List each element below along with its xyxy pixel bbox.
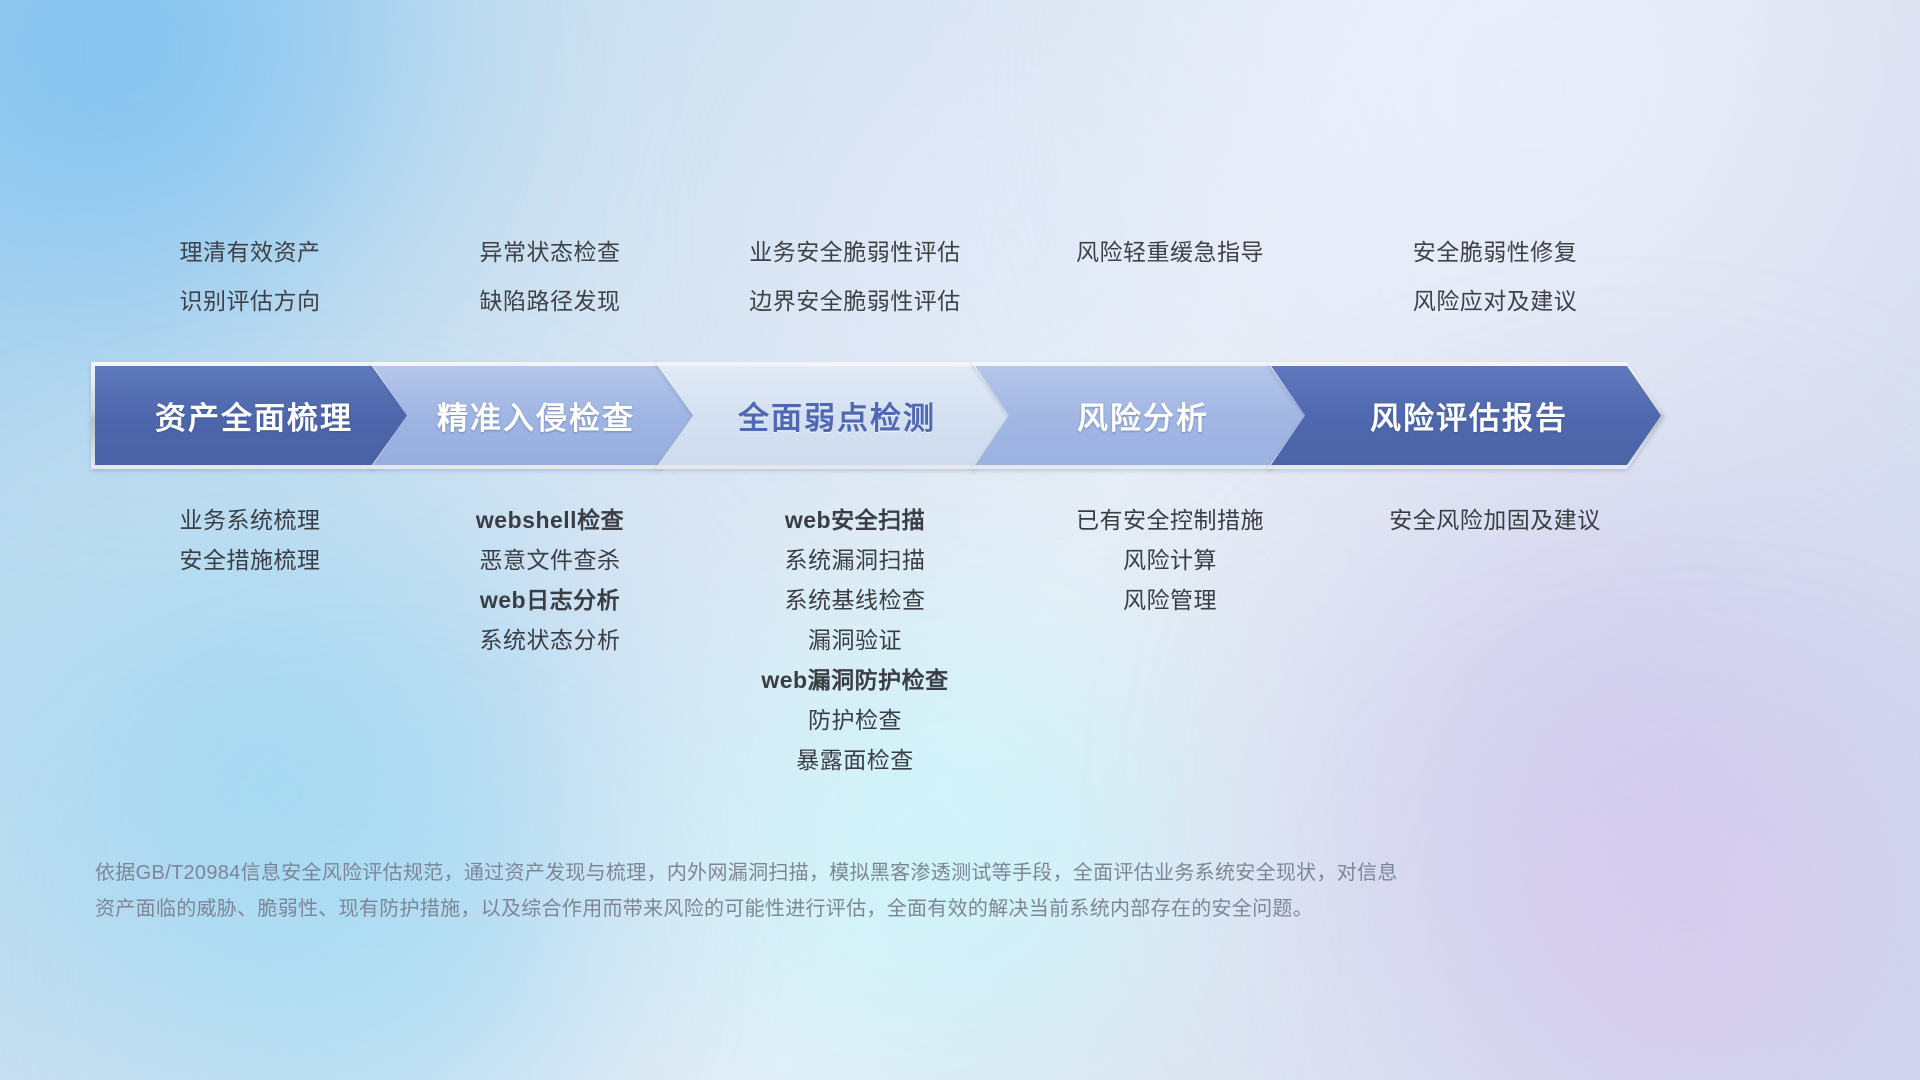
top-captions-column-3: 业务安全脆弱性评估 边界安全脆弱性评估 — [695, 228, 1015, 326]
caption-item: 识别评估方向 — [95, 277, 405, 326]
stage-arrow-label: 风险分析 — [1071, 393, 1209, 438]
top-captions-column-5: 安全脆弱性修复 风险应对及建议 — [1325, 228, 1665, 326]
stage-arrow-label: 资产全面梳理 — [149, 393, 353, 438]
stage-arrow-2[interactable]: 精准入侵检查 — [373, 366, 693, 465]
bottom-list-column-5: 安全风险加固及建议 — [1325, 500, 1665, 540]
stage-arrow-1[interactable]: 资产全面梳理 — [95, 366, 407, 465]
stage-arrow-label: 全面弱点检测 — [732, 393, 936, 438]
bottom-list-column-2: webshell检查 恶意文件查杀 web日志分析 系统状态分析 — [405, 500, 695, 660]
stage-arrow-5[interactable]: 风险评估报告 — [1271, 366, 1661, 465]
list-item: 防护检查 — [695, 700, 1015, 740]
list-item: 系统基线检查 — [695, 580, 1015, 620]
list-item: 系统漏洞扫描 — [695, 540, 1015, 580]
top-captions-column-1: 理清有效资产 识别评估方向 — [95, 228, 405, 326]
stage-arrow-label: 精准入侵检查 — [431, 393, 635, 438]
list-item: 安全风险加固及建议 — [1325, 500, 1665, 540]
caption-item: 安全脆弱性修复 — [1325, 228, 1665, 277]
caption-item: 理清有效资产 — [95, 228, 405, 277]
diagram-stage: 理清有效资产 识别评估方向 异常状态检查 缺陷路径发现 业务安全脆弱性评估 边界… — [0, 0, 1920, 1080]
footer-line-1: 依据GB/T20984信息安全风险评估规范，通过资产发现与梳理，内外网漏洞扫描，… — [95, 855, 1635, 891]
footer-line-2: 资产面临的威胁、脆弱性、现有防护措施，以及综合作用而带来风险的可能性进行评估，全… — [95, 891, 1635, 927]
list-item: 漏洞验证 — [695, 620, 1015, 660]
bottom-list-column-4: 已有安全控制措施 风险计算 风险管理 — [1015, 500, 1325, 620]
list-item: 业务系统梳理 — [95, 500, 405, 540]
bottom-list-column-3: web安全扫描 系统漏洞扫描 系统基线检查 漏洞验证 web漏洞防护检查 防护检… — [695, 500, 1015, 780]
caption-item: 业务安全脆弱性评估 — [695, 228, 1015, 277]
caption-item: 风险应对及建议 — [1325, 277, 1665, 326]
stage-arrow-label: 风险评估报告 — [1364, 393, 1568, 438]
list-item: 系统状态分析 — [405, 620, 695, 660]
bottom-lists-row: 业务系统梳理 安全措施梳理 webshell检查 恶意文件查杀 web日志分析 … — [95, 500, 1825, 780]
list-item: 风险管理 — [1015, 580, 1325, 620]
top-captions-column-4: 风险轻重缓急指导 — [1015, 228, 1325, 277]
list-item: 暴露面检查 — [695, 740, 1015, 780]
list-item: web安全扫描 — [695, 500, 1015, 540]
list-item: 恶意文件查杀 — [405, 540, 695, 580]
list-item: 安全措施梳理 — [95, 540, 405, 580]
caption-item: 风险轻重缓急指导 — [1015, 228, 1325, 277]
top-captions-column-2: 异常状态检查 缺陷路径发现 — [405, 228, 695, 326]
top-captions-row: 理清有效资产 识别评估方向 异常状态检查 缺陷路径发现 业务安全脆弱性评估 边界… — [95, 228, 1825, 326]
bottom-list-column-1: 业务系统梳理 安全措施梳理 — [95, 500, 405, 580]
process-arrow-band: 资产全面梳理 精准入侵检查 全面弱点检测 风险分析 风险评估报告 — [95, 366, 1825, 465]
caption-item: 缺陷路径发现 — [405, 277, 695, 326]
list-item: web日志分析 — [405, 580, 695, 620]
list-item: 已有安全控制措施 — [1015, 500, 1325, 540]
stage-arrow-4[interactable]: 风险分析 — [975, 366, 1305, 465]
footer-description: 依据GB/T20984信息安全风险评估规范，通过资产发现与梳理，内外网漏洞扫描，… — [95, 855, 1635, 927]
caption-item: 边界安全脆弱性评估 — [695, 277, 1015, 326]
list-item: webshell检查 — [405, 500, 695, 540]
list-item: web漏洞防护检查 — [695, 660, 1015, 700]
list-item: 风险计算 — [1015, 540, 1325, 580]
caption-item: 异常状态检查 — [405, 228, 695, 277]
stage-arrow-3[interactable]: 全面弱点检测 — [659, 366, 1009, 465]
